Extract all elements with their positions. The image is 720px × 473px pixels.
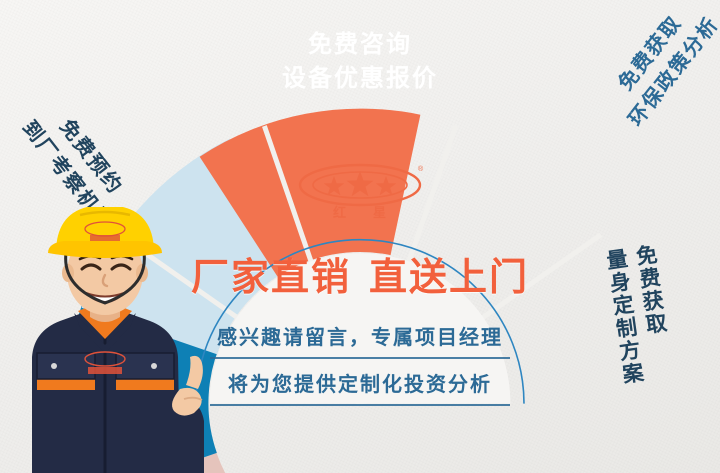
worker-thumb-icon	[186, 356, 203, 389]
worker-pocket-button-right	[151, 363, 157, 369]
worker-helmet-wordmark	[90, 235, 120, 241]
worker-chest-wordmark	[88, 367, 122, 374]
worker-helmet-brim	[48, 241, 162, 258]
worker-pocket-button-left	[51, 363, 57, 369]
worker-photo	[4, 207, 218, 473]
promo-banner: 免费咨询 设备优惠报价 免费预约 到厂考察机器 免费获取 环保政策分析 免费获取…	[0, 0, 720, 473]
